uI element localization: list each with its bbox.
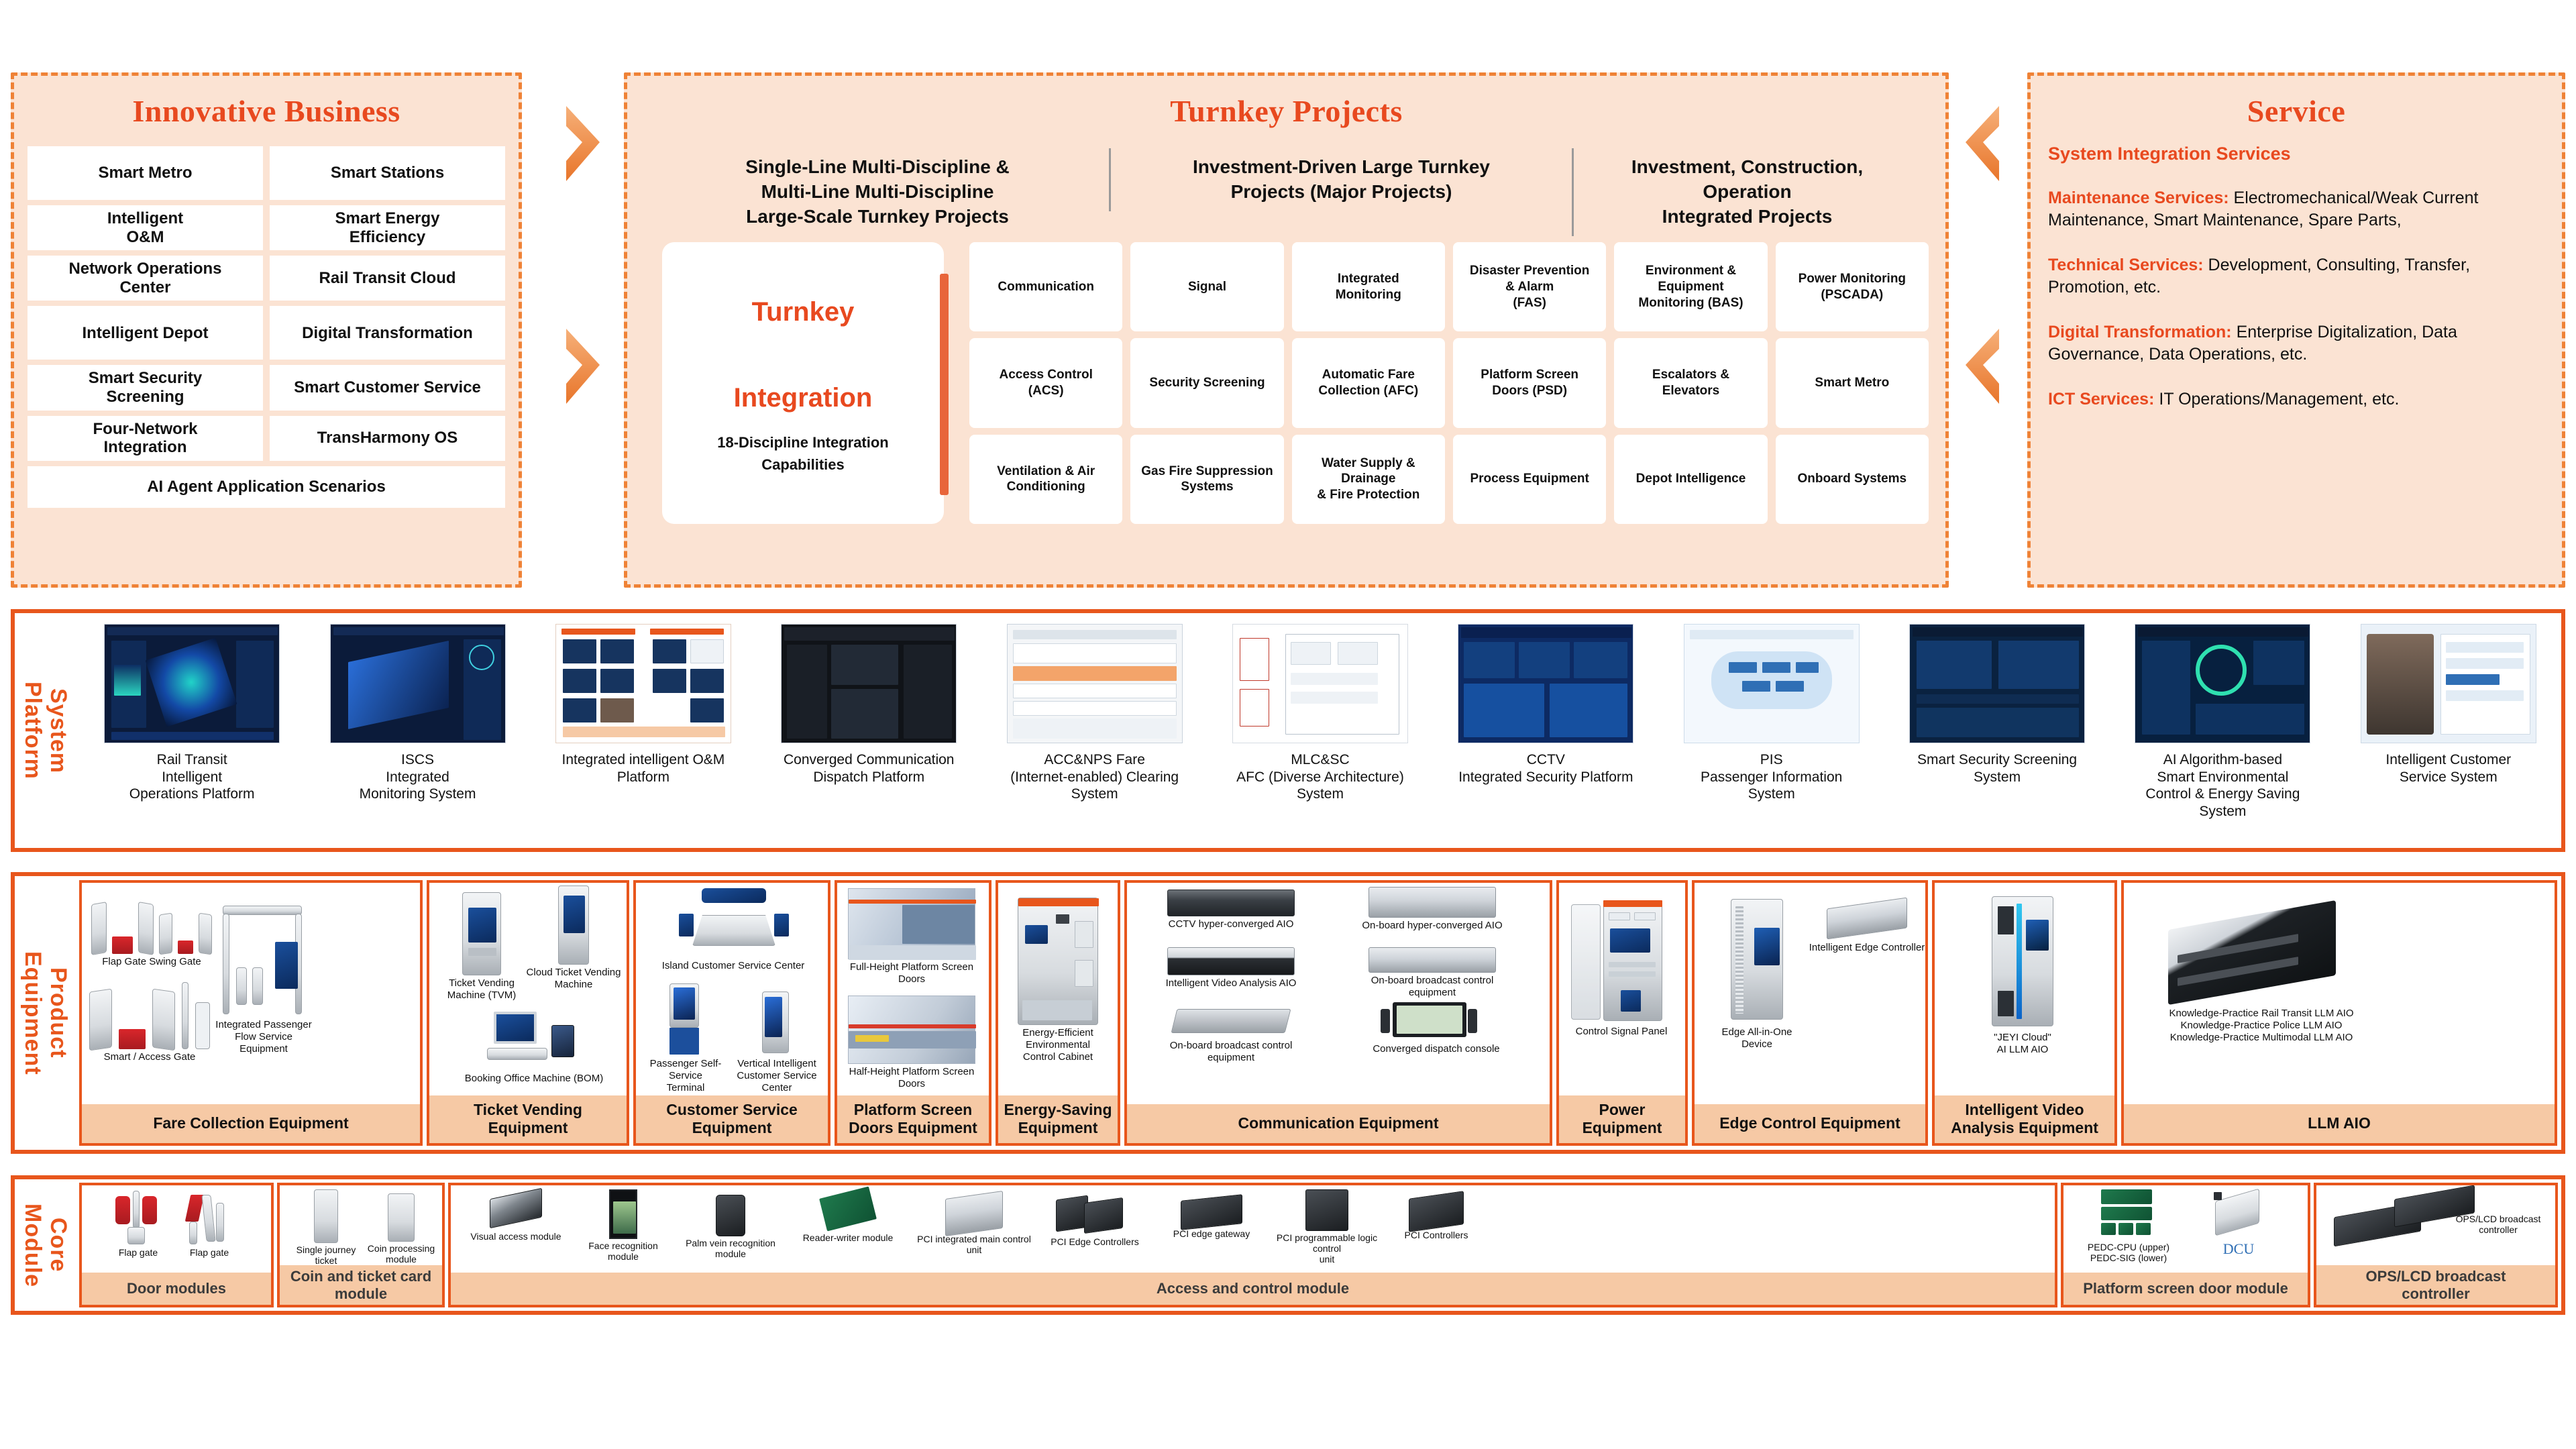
turnkey-integration-title: Turnkey Integration: [734, 290, 873, 419]
innovative-business-grid: Smart Metro Smart Stations Intelligent O…: [28, 146, 505, 508]
system-item-cctv-integrated-security[interactable]: CCTV Integrated Security Platform: [1433, 613, 1658, 848]
product-caption: On-board broadcast control equipment: [1348, 975, 1516, 999]
product-caption: Knowledge-Practice Rail Transit LLM AIO …: [2151, 1008, 2372, 1044]
service-ict-text: IT Operations/Management, etc.: [2154, 390, 2399, 409]
product-col-body: Intelligent Edge Controller Edge All-in-…: [1695, 883, 1925, 1104]
core-caption: Face recognition module: [573, 1240, 674, 1262]
system-item-label: ACC&NPS Fare (Internet-enabled) Clearing…: [1010, 751, 1179, 803]
product-caption: Edge All-in-One Device: [1707, 1026, 1807, 1051]
product-col-fare-collection[interactable]: Flap Gate Swing Gate Integrated Passenge…: [79, 880, 423, 1146]
system-item-label: Converged Communication Dispatch Platfor…: [784, 751, 954, 786]
system-platform-band: System Platform Rail Transit Intelligent…: [11, 609, 2565, 852]
product-item-knowledge-practice-llm-aio: Knowledge-Practice Rail Transit LLM AIO …: [2151, 910, 2372, 1044]
product-col-energy-saving[interactable]: Energy-Efficient Environmental Control C…: [996, 880, 1120, 1146]
product-caption: Booking Office Machine (BOM): [460, 1073, 608, 1085]
product-caption: Full-Height Platform Screen Doors: [847, 961, 977, 985]
product-col-customer-service[interactable]: Island Customer Service Center Passenger…: [633, 880, 830, 1146]
system-item-rail-transit-intelligent-operations[interactable]: Rail Transit Intelligent Operations Plat…: [79, 613, 305, 848]
product-col-footer: Platform Screen Doors Equipment: [837, 1095, 989, 1143]
discipline-depot-intelligence[interactable]: Depot Intelligence: [1614, 435, 1767, 524]
core-col-door-modules[interactable]: Flap gate Flap gate Door modules: [79, 1183, 274, 1307]
turnkey-discipline-grid: Communication Signal Integrated Monitori…: [969, 242, 1929, 524]
core-item-palm-vein-module: Palm vein recognition module: [675, 1195, 786, 1259]
product-caption: Control Signal Panel: [1571, 1026, 1672, 1038]
system-item-pis-passenger-information[interactable]: PIS Passenger Information System: [1659, 613, 1884, 848]
discipline-communication[interactable]: Communication: [969, 242, 1122, 331]
core-col-ops-lcd-broadcast[interactable]: OPS/LCD broadcast controller OPS/LCD bro…: [2314, 1183, 2558, 1307]
innovative-business-panel: Innovative Business Smart Metro Smart St…: [11, 72, 522, 588]
thumbnail-pis: [1684, 624, 1860, 743]
core-item-pci-controllers: PCI Controllers: [1386, 1195, 1487, 1240]
product-caption: Flap Gate Swing Gate: [91, 956, 212, 968]
product-col-body: CCTV hyper-converged AIO On-board hyper-…: [1127, 883, 1550, 1104]
product-col-ticket-vending[interactable]: Ticket Vending Machine (TVM) Cloud Ticke…: [427, 880, 629, 1146]
service-ict: ICT Services: IT Operations/Management, …: [2048, 388, 2544, 411]
turnkey-head-investment-driven: Investment-Driven Large Turnkey Projects…: [1109, 148, 1572, 211]
core-item-reader-writer-module: Reader-writer module: [794, 1192, 902, 1243]
product-col-body: Ticket Vending Machine (TVM) Cloud Ticke…: [429, 883, 627, 1095]
core-caption: Reader-writer module: [794, 1232, 902, 1243]
product-item-intelligent-edge-controller: Intelligent Edge Controller: [1807, 903, 1925, 954]
service-maintenance-label: Maintenance Services:: [2048, 189, 2229, 207]
core-caption: DCU: [2188, 1240, 2289, 1257]
core-col-footer: Door modules: [82, 1273, 271, 1305]
system-platform-label: System Platform: [15, 613, 76, 848]
product-col-platform-screen-doors[interactable]: Full-Height Platform Screen Doors Half-H…: [835, 880, 991, 1146]
system-item-label: CCTV Integrated Security Platform: [1458, 751, 1633, 786]
product-caption: On-board broadcast control equipment: [1147, 1040, 1315, 1064]
turnkey-integration-subtitle: 18-Discipline Integration Capabilities: [717, 431, 889, 476]
service-maintenance: Maintenance Services: Electromechanical/…: [2048, 187, 2544, 231]
core-item-dcu: DCU: [2188, 1192, 2289, 1257]
core-caption: PCI Edge Controllers: [1041, 1236, 1148, 1247]
ib-item-ai-agent-application-scenarios[interactable]: AI Agent Application Scenarios: [28, 466, 505, 508]
architecture-diagram: Innovative Business Smart Metro Smart St…: [0, 0, 2576, 1449]
core-caption: Flap gate: [105, 1247, 172, 1258]
product-item-flap-swing-gate: Flap Gate Swing Gate: [91, 890, 212, 968]
discipline-water-supply-drainage[interactable]: Water Supply & Drainage & Fire Protectio…: [1292, 435, 1445, 524]
chevron-right-icon-1: [562, 103, 604, 184]
product-col-edge-control[interactable]: Intelligent Edge Controller Edge All-in-…: [1692, 880, 1928, 1146]
product-caption: Half-Height Platform Screen Doors: [847, 1066, 977, 1090]
product-equipment-label: Product Equipment: [15, 876, 76, 1150]
product-col-intelligent-video-analysis[interactable]: "JEYI Cloud" AI LLM AIO Intelligent Vide…: [1932, 880, 2117, 1146]
product-item-jeyi-cloud-ai-llm-aio: "JEYI Cloud" AI LLM AIO: [1959, 896, 2086, 1056]
product-col-footer: Power Equipment: [1559, 1095, 1685, 1143]
top-row: Innovative Business Smart Metro Smart St…: [0, 64, 2576, 601]
product-col-footer: Energy-Saving Equipment: [998, 1095, 1118, 1143]
product-equipment-columns: Flap Gate Swing Gate Integrated Passenge…: [79, 880, 2557, 1146]
core-col-body: Single journey ticket processing module …: [280, 1185, 442, 1265]
discipline-environment-equipment-monitoring[interactable]: Environment & Equipment Monitoring (BAS): [1614, 242, 1767, 331]
product-col-footer: LLM AIO: [2124, 1104, 2555, 1143]
product-item-smart-access-gate: Smart / Access Gate: [87, 969, 212, 1063]
innovative-business-title: Innovative Business: [14, 93, 519, 129]
ib-item-intelligent-om[interactable]: Intelligent O&M: [28, 205, 263, 250]
product-col-body: Control Signal Panel: [1559, 883, 1685, 1095]
system-item-ai-smart-environmental-control[interactable]: AI Algorithm-based Smart Environmental C…: [2110, 613, 2335, 848]
system-item-label: AI Algorithm-based Smart Environmental C…: [2145, 751, 2300, 820]
core-col-footer: OPS/LCD broadcast controller: [2316, 1265, 2555, 1305]
thumbnail-acc-nps: [1007, 624, 1183, 743]
core-item-pci-edge-gateway: PCI edge gateway: [1158, 1197, 1265, 1239]
product-item-integrated-passenger-flow: Integrated Passenger Flow Service Equipm…: [213, 906, 314, 1055]
chevron-right-icon-2: [562, 326, 604, 407]
product-caption: Smart / Access Gate: [87, 1051, 212, 1063]
product-item-tvm: Ticket Vending Machine (TVM): [435, 892, 529, 1002]
system-item-intelligent-customer-service[interactable]: Intelligent Customer Service System: [2336, 613, 2561, 848]
core-item-single-journey-ticket-module: Single journey ticket processing module: [289, 1189, 363, 1265]
ib-item-four-network-integration[interactable]: Four-Network Integration: [28, 416, 263, 461]
product-col-body: Flap Gate Swing Gate Integrated Passenge…: [82, 883, 420, 1104]
service-body: System Integration Services Maintenance …: [2031, 129, 2562, 411]
ib-item-smart-stations[interactable]: Smart Stations: [270, 146, 505, 200]
discipline-process-equipment[interactable]: Process Equipment: [1453, 435, 1606, 524]
product-col-body: Island Customer Service Center Passenger…: [636, 883, 828, 1095]
discipline-access-control[interactable]: Access Control (ACS): [969, 338, 1122, 427]
product-caption: Cloud Ticket Vending Machine: [523, 967, 624, 991]
discipline-power-monitoring[interactable]: Power Monitoring (PSCADA): [1776, 242, 1929, 331]
product-item-intelligent-video-analysis-aio: Intelligent Video Analysis AIO: [1147, 947, 1315, 989]
core-item-pci-plc-unit: PCI programmable logic control unit: [1271, 1189, 1383, 1265]
service-title: Service: [2031, 93, 2562, 129]
product-item-bom: Booking Office Machine (BOM): [460, 1009, 608, 1085]
service-digital-transformation: Digital Transformation: Enterprise Digit…: [2048, 321, 2544, 366]
ib-item-digital-transformation[interactable]: Digital Transformation: [270, 306, 505, 360]
core-module-band: Core Module Flap gate: [11, 1175, 2565, 1315]
core-col-footer: Access and control module: [451, 1273, 2055, 1305]
product-item-onboard-hyper-converged-aio: On-board hyper-converged AIO: [1348, 887, 1516, 932]
system-item-integrated-intelligent-om[interactable]: Integrated intelligent O&M Platform: [531, 613, 756, 848]
product-caption: Energy-Efficient Environmental Control C…: [1006, 1027, 1110, 1063]
system-item-label: Integrated intelligent O&M Platform: [561, 751, 724, 786]
core-item-flap-gate-2: Flap gate: [176, 1191, 243, 1258]
core-item-pedc-boards: PEDC-CPU (upper) PEDC-SIG (lower): [2078, 1189, 2179, 1263]
system-item-label: Smart Security Screening System: [1917, 751, 2077, 786]
discipline-ventilation-air-conditioning[interactable]: Ventilation & Air Conditioning: [969, 435, 1122, 524]
product-caption: Ticket Vending Machine (TVM): [435, 977, 529, 1002]
thumbnail-mlc-sc: [1232, 624, 1408, 743]
product-caption: Converged dispatch console: [1352, 1043, 1520, 1055]
product-col-body: Full-Height Platform Screen Doors Half-H…: [837, 883, 989, 1095]
core-col-footer: Coin and ticket card module: [280, 1265, 442, 1305]
product-col-footer: Communication Equipment: [1127, 1104, 1550, 1143]
ib-item-rail-transit-cloud[interactable]: Rail Transit Cloud: [270, 256, 505, 301]
product-col-body: "JEYI Cloud" AI LLM AIO: [1935, 883, 2114, 1095]
core-caption: PCI integrated main control unit: [914, 1234, 1034, 1255]
product-col-power[interactable]: Control Signal Panel Power Equipment: [1556, 880, 1688, 1146]
turnkey-projects-title: Turnkey Projects: [627, 93, 1945, 129]
product-item-control-signal-panel: Control Signal Panel: [1571, 900, 1672, 1038]
core-caption: PEDC-CPU (upper) PEDC-SIG (lower): [2078, 1242, 2179, 1263]
turnkey-projects-panel: Turnkey Projects Single-Line Multi-Disci…: [624, 72, 1949, 588]
system-item-label: ISCS Integrated Monitoring System: [360, 751, 476, 803]
thumbnail-security-screening: [1909, 624, 2085, 743]
chevron-left-icon-1: [1962, 103, 2003, 184]
discipline-onboard-systems[interactable]: Onboard Systems: [1776, 435, 1929, 524]
core-module-columns: Flap gate Flap gate Door modules: [79, 1183, 2558, 1307]
core-caption: Single journey ticket processing module: [289, 1244, 363, 1265]
product-item-edge-all-in-one: Edge All-in-One Device: [1707, 899, 1807, 1051]
ib-item-network-operations-center[interactable]: Network Operations Center: [28, 256, 263, 301]
system-item-accnps-fare-clearing[interactable]: ACC&NPS Fare (Internet-enabled) Clearing…: [981, 613, 1207, 848]
product-col-footer: Customer Service Equipment: [636, 1095, 828, 1143]
product-item-cloud-tvm: Cloud Ticket Vending Machine: [523, 885, 624, 991]
core-module-label: Core Module: [15, 1179, 76, 1311]
core-col-body: PEDC-CPU (upper) PEDC-SIG (lower) DCU: [2063, 1185, 2308, 1273]
turnkey-heads: Single-Line Multi-Discipline & Multi-Lin…: [646, 148, 1933, 248]
product-col-body: Energy-Efficient Environmental Control C…: [998, 883, 1118, 1095]
ib-item-smart-energy-efficiency[interactable]: Smart Energy Efficiency: [270, 205, 505, 250]
core-caption: PCI programmable logic control unit: [1271, 1232, 1383, 1265]
core-caption: PCI Controllers: [1386, 1230, 1487, 1240]
product-caption: CCTV hyper-converged AIO: [1147, 918, 1315, 930]
product-caption: Island Customer Service Center: [649, 960, 817, 972]
product-item-half-height-psd: Half-Height Platform Screen Doors: [847, 996, 977, 1090]
product-item-island-csc: Island Customer Service Center: [649, 888, 817, 972]
core-item-ops-lcd-broadcast-controller: OPS/LCD broadcast controller: [2330, 1192, 2544, 1244]
system-item-iscs-integrated-monitoring[interactable]: ISCS Integrated Monitoring System: [305, 613, 530, 848]
core-item-pci-integrated-main-control-unit: PCI integrated main control unit: [914, 1195, 1034, 1255]
system-item-label: Intelligent Customer Service System: [2385, 751, 2511, 786]
turnkey-head-single-multi-line: Single-Line Multi-Discipline & Multi-Lin…: [646, 148, 1109, 236]
ib-item-smart-metro[interactable]: Smart Metro: [28, 146, 263, 200]
ib-item-intelligent-depot[interactable]: Intelligent Depot: [28, 306, 263, 360]
system-item-label: PIS Passenger Information System: [1701, 751, 1842, 803]
core-item-coin-processing-module: Coin processing module: [364, 1193, 438, 1265]
discipline-security-screening[interactable]: Security Screening: [1130, 338, 1283, 427]
turnkey-divider-bar: [940, 274, 949, 495]
thumbnail-intelligent-om: [555, 624, 731, 743]
product-col-footer: Edge Control Equipment: [1695, 1104, 1925, 1143]
thumbnail-customer-service: [2361, 624, 2536, 743]
product-col-llm-aio[interactable]: Knowledge-Practice Rail Transit LLM AIO …: [2121, 880, 2557, 1146]
discipline-platform-screen-doors[interactable]: Platform Screen Doors (PSD): [1453, 338, 1606, 427]
core-col-footer: Platform screen door module: [2063, 1273, 2308, 1305]
discipline-escalators-elevators[interactable]: Escalators & Elevators: [1614, 338, 1767, 427]
discipline-integrated-monitoring[interactable]: Integrated Monitoring: [1292, 242, 1445, 331]
product-caption: Integrated Passenger Flow Service Equipm…: [213, 1019, 314, 1055]
core-caption: Visual access module: [466, 1231, 566, 1242]
turnkey-head-investment-construction-operation: Investment, Construction, Operation Inte…: [1572, 148, 1921, 236]
core-caption: Coin processing module: [364, 1243, 438, 1265]
core-col-body: OPS/LCD broadcast controller: [2316, 1185, 2555, 1265]
product-col-body: Knowledge-Practice Rail Transit LLM AIO …: [2124, 883, 2555, 1104]
discipline-signal[interactable]: Signal: [1130, 242, 1283, 331]
system-item-converged-communication-dispatch[interactable]: Converged Communication Dispatch Platfor…: [756, 613, 981, 848]
core-caption: Flap gate: [176, 1247, 243, 1258]
product-caption: On-board hyper-converged AIO: [1348, 920, 1516, 932]
core-col-body: Visual access module Face recognition mo…: [451, 1185, 2055, 1273]
service-ict-label: ICT Services:: [2048, 390, 2154, 409]
thumbnail-rail-transit-ops: [104, 624, 280, 743]
core-item-visual-access-module: Visual access module: [466, 1193, 566, 1242]
product-item-onboard-broadcast-control-1: On-board broadcast control equipment: [1348, 947, 1516, 999]
core-item-face-recognition-module: Face recognition module: [573, 1189, 674, 1262]
service-technical-label: Technical Services:: [2048, 256, 2204, 274]
product-col-footer: Intelligent Video Analysis Equipment: [1935, 1095, 2114, 1143]
core-col-platform-screen-door[interactable]: PEDC-CPU (upper) PEDC-SIG (lower) DCU Pl…: [2061, 1183, 2310, 1307]
discipline-gas-fire-suppression[interactable]: Gas Fire Suppression Systems: [1130, 435, 1283, 524]
core-item-pci-edge-controllers: PCI Edge Controllers: [1041, 1196, 1148, 1247]
thumbnail-cctv: [1458, 624, 1633, 743]
thumbnail-iscs: [330, 624, 506, 743]
core-col-body: Flap gate Flap gate: [82, 1185, 271, 1273]
ib-item-smart-customer-service[interactable]: Smart Customer Service: [270, 365, 505, 410]
product-equipment-band: Product Equipment Flap Gate: [11, 872, 2565, 1154]
discipline-disaster-prevention-alarm[interactable]: Disaster Prevention & Alarm (FAS): [1453, 242, 1606, 331]
core-col-access-control[interactable]: Visual access module Face recognition mo…: [448, 1183, 2057, 1307]
product-caption: Intelligent Edge Controller: [1807, 942, 1925, 954]
core-item-flap-gate-1: Flap gate: [105, 1191, 172, 1258]
product-caption: Passenger Self-Service Terminal: [639, 1058, 733, 1094]
product-item-cctv-hyper-converged-aio: CCTV hyper-converged AIO: [1147, 890, 1315, 930]
product-caption: "JEYI Cloud" AI LLM AIO: [1959, 1032, 2086, 1056]
product-item-passenger-self-service: Passenger Self-Service Terminal: [639, 983, 733, 1094]
product-item-full-height-psd: Full-Height Platform Screen Doors: [847, 888, 977, 985]
service-lead: System Integration Services: [2048, 144, 2544, 164]
system-item-label: Rail Transit Intelligent Operations Plat…: [129, 751, 255, 803]
turnkey-integration-card: Turnkey Integration 18-Discipline Integr…: [662, 242, 944, 524]
thumbnail-dispatch: [781, 624, 957, 743]
product-item-vertical-intelligent-csc: Vertical Intelligent Customer Service Ce…: [730, 991, 824, 1094]
service-technical: Technical Services: Development, Consult…: [2048, 254, 2544, 299]
discipline-automatic-fare-collection[interactable]: Automatic Fare Collection (AFC): [1292, 338, 1445, 427]
product-item-onboard-broadcast-control-2: On-board broadcast control equipment: [1147, 1009, 1315, 1064]
product-caption: Vertical Intelligent Customer Service Ce…: [730, 1058, 824, 1094]
system-item-mlc-sc-afc[interactable]: MLC&SC AFC (Diverse Architecture) System: [1207, 613, 1433, 848]
system-item-smart-security-screening[interactable]: Smart Security Screening System: [1884, 613, 2110, 848]
product-col-communication[interactable]: CCTV hyper-converged AIO On-board hyper-…: [1124, 880, 1552, 1146]
product-item-energy-efficient-cabinet: Energy-Efficient Environmental Control C…: [1006, 898, 1110, 1063]
chevron-left-icon-2: [1962, 326, 2003, 407]
discipline-smart-metro[interactable]: Smart Metro: [1776, 338, 1929, 427]
core-col-coin-ticket-card[interactable]: Single journey ticket processing module …: [277, 1183, 445, 1307]
thumbnail-ai-environmental: [2135, 624, 2310, 743]
service-digital-label: Digital Transformation:: [2048, 323, 2232, 341]
service-panel: Service System Integration Services Main…: [2027, 72, 2565, 588]
system-item-label: MLC&SC AFC (Diverse Architecture) System: [1236, 751, 1404, 803]
ib-item-transharmony-os[interactable]: TransHarmony OS: [270, 416, 505, 461]
core-caption: Palm vein recognition module: [675, 1238, 786, 1259]
core-caption: PCI edge gateway: [1158, 1228, 1265, 1239]
product-col-footer: Ticket Vending Equipment: [429, 1095, 627, 1143]
ib-item-smart-security-screening[interactable]: Smart Security Screening: [28, 365, 263, 410]
product-col-footer: Fare Collection Equipment: [82, 1104, 420, 1143]
system-platform-items: Rail Transit Intelligent Operations Plat…: [79, 613, 2561, 848]
product-item-converged-dispatch-console: Converged dispatch console: [1352, 1002, 1520, 1055]
core-caption: OPS/LCD broadcast controller: [2455, 1214, 2542, 1235]
product-caption: Intelligent Video Analysis AIO: [1147, 977, 1315, 989]
